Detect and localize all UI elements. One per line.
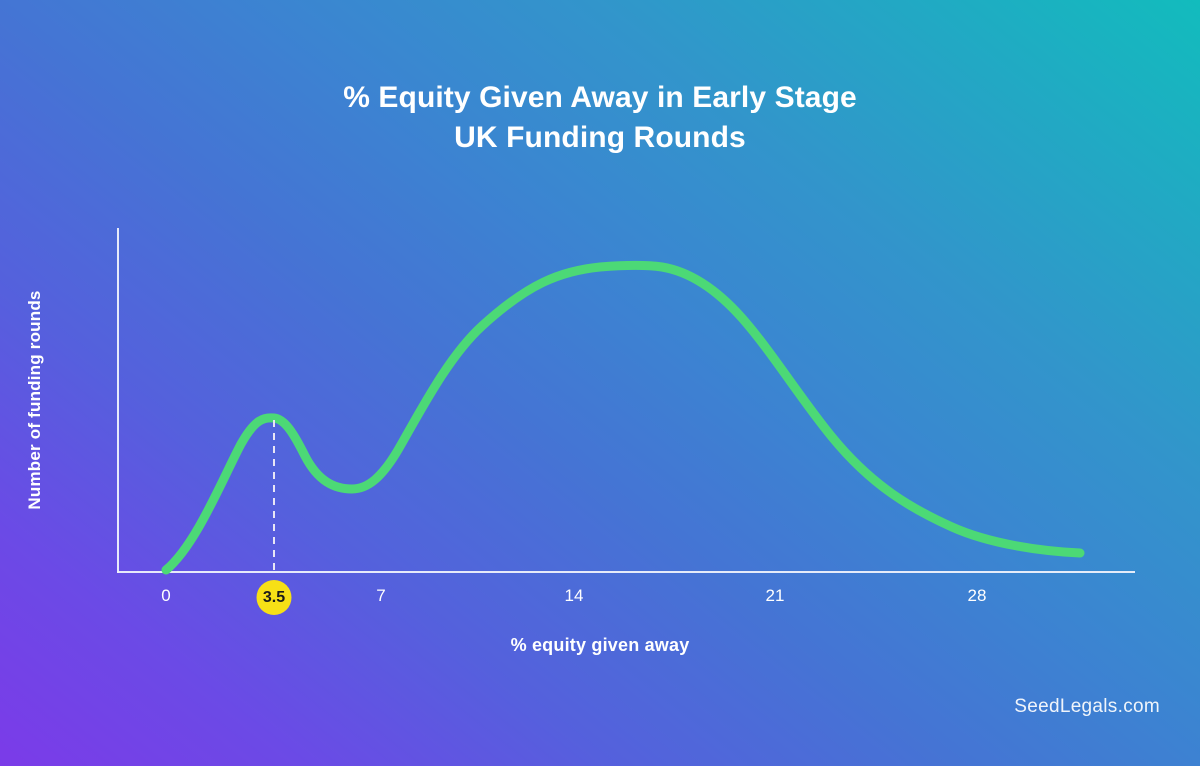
x-tick-label-7: 7 [376,586,385,606]
infographic-canvas: % Equity Given Away in Early Stage UK Fu… [0,0,1200,766]
x-tick-label-3-5-highlight[interactable]: 3.5 [257,580,292,615]
y-axis-title: Number of funding rounds [25,260,45,540]
x-tick-label-28: 28 [968,586,987,606]
x-tick-label-21: 21 [766,586,785,606]
x-tick-label-14: 14 [565,586,584,606]
x-axis-title: % equity given away [0,635,1200,656]
x-tick-label-0: 0 [161,586,170,606]
brand-watermark: SeedLegals.com [1014,696,1160,718]
distribution-curve [166,266,1080,571]
